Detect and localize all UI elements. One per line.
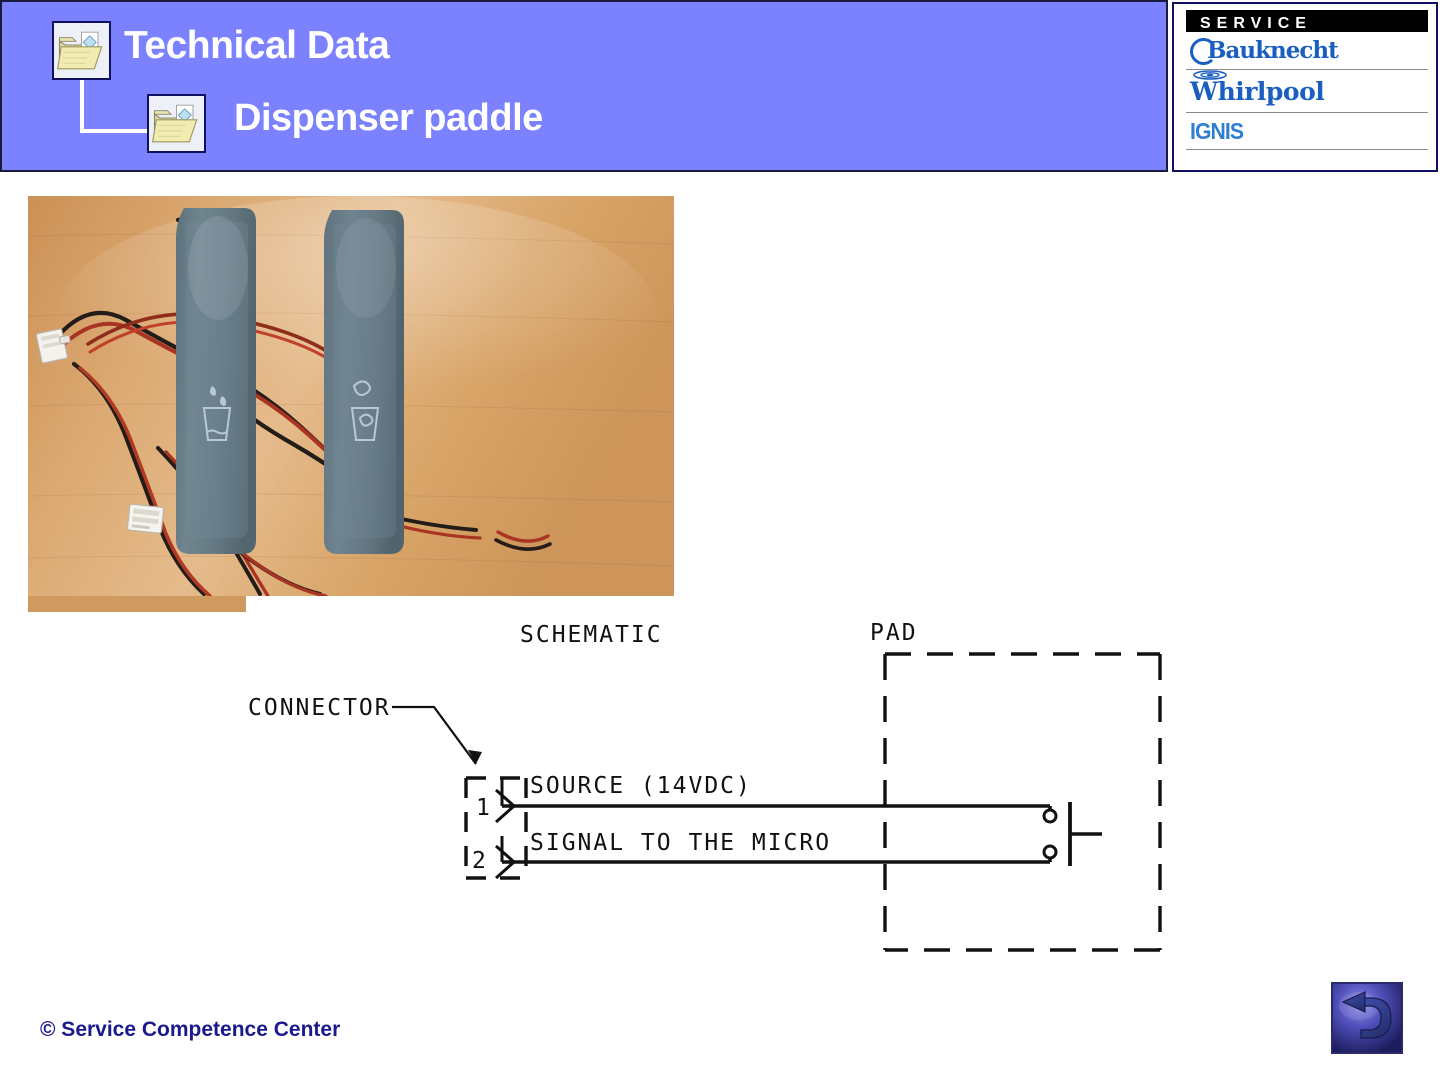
pad-label: PAD [870, 620, 918, 646]
brand-row-bauknecht: Bauknecht [1186, 32, 1428, 70]
whirlpool-swirl-icon [1192, 70, 1228, 80]
back-button[interactable] [1331, 982, 1403, 1054]
service-banner: SERVICE [1186, 10, 1428, 32]
connector-label: CONNECTOR [248, 695, 391, 721]
whirlpool-logo: Whirlpool [1190, 79, 1324, 104]
page-subtitle: Dispenser paddle [234, 97, 543, 140]
ignis-logo-text: IGNIS [1190, 118, 1243, 145]
header-bar: Technical Data Dispenser paddle [0, 0, 1168, 172]
pin-2-label: SIGNAL TO THE MICRO [530, 830, 831, 856]
schematic-title: SCHEMATIC [520, 622, 663, 648]
pin-1-label: SOURCE (14VDC) [530, 773, 752, 799]
brand-row-whirlpool: Whirlpool [1186, 70, 1428, 113]
whirlpool-logo-text: Whirlpool [1190, 77, 1324, 106]
schematic-diagram: .techtext { font-family: "DejaVu Sans Mo… [230, 610, 1210, 980]
bauknecht-c-icon [1190, 38, 1217, 65]
brand-panel: SERVICE Bauknecht Whirlpool IGNIS [1172, 2, 1438, 172]
footer-copyright: © Service Competence Center [40, 1018, 340, 1042]
product-photo [28, 196, 674, 596]
page-title: Technical Data [124, 24, 389, 68]
pin-2-number: 2 [472, 848, 488, 874]
bauknecht-logo: Bauknecht [1190, 37, 1338, 64]
product-photo-extension [28, 596, 246, 612]
paddle-left [174, 206, 256, 564]
pin-1-number: 1 [476, 795, 492, 821]
back-arrow-icon [1333, 984, 1401, 1052]
folder-document-icon [147, 94, 206, 153]
paddle-right [324, 210, 404, 554]
brand-row-ignis: IGNIS [1186, 113, 1428, 150]
tree-connector-line [80, 80, 150, 133]
bauknecht-logo-text: Bauknecht [1207, 39, 1338, 62]
folder-document-icon [52, 21, 111, 80]
